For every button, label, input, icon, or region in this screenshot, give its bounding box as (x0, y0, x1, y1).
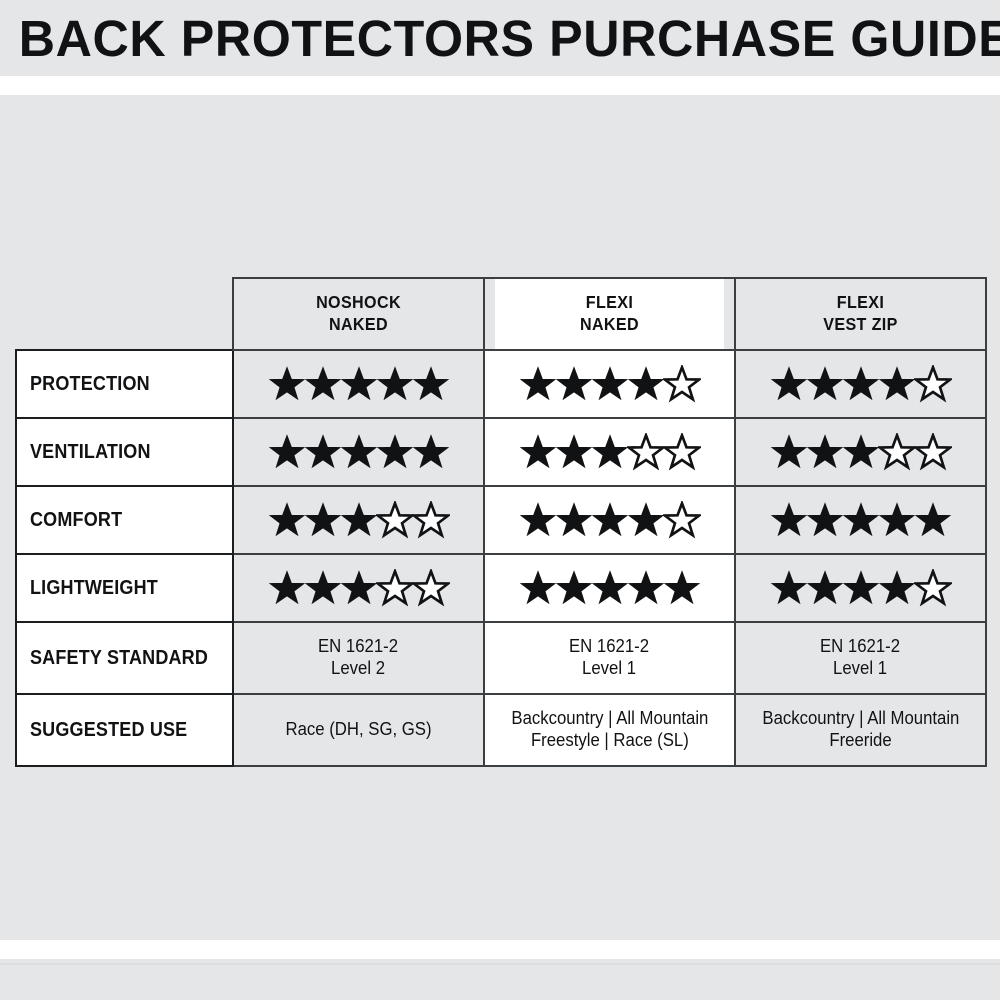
rating-stars (737, 501, 984, 539)
row-label-text: COMFORT (30, 509, 122, 532)
star-filled-icon (340, 569, 378, 607)
star-filled-icon (806, 433, 844, 471)
row-label-text: SUGGESTED USE (30, 719, 187, 742)
star-filled-icon (770, 501, 808, 539)
row-label-3: LIGHTWEIGHT (16, 554, 233, 622)
cell-text-line: EN 1621-2 (318, 636, 398, 658)
cell-r0-c0 (233, 350, 484, 418)
star-filled-icon (806, 365, 844, 403)
table-row: SAFETY STANDARDEN 1621-2Level 2EN 1621-2… (16, 622, 986, 694)
rating-stars (486, 569, 733, 607)
table-header: NOSHOCKNAKED FLEXINAKED FLEXIVEST ZIP (16, 278, 986, 350)
star-empty-icon (412, 569, 450, 607)
rating-stars (737, 365, 984, 403)
cell-r2-c2 (735, 486, 986, 554)
cell-r5-c0: Race (DH, SG, GS) (233, 694, 484, 766)
star-filled-icon (340, 501, 378, 539)
cell-text-line: Backcountry | All Mountain (511, 708, 708, 730)
column-header-2: FLEXIVEST ZIP (745, 278, 976, 350)
star-filled-icon (555, 501, 593, 539)
star-filled-icon (376, 433, 414, 471)
star-filled-icon (591, 569, 629, 607)
column-header-line2: NAKED (496, 314, 723, 336)
cell-r4-c1: EN 1621-2Level 1 (484, 622, 735, 694)
rating-stars (235, 501, 482, 539)
page-title: BACK PROTECTORS PURCHASE GUIDE (0, 13, 1000, 64)
row-label-4: SAFETY STANDARD (16, 622, 233, 694)
cell-text-line: Freestyle | Race (SL) (531, 730, 689, 752)
star-filled-icon (770, 365, 808, 403)
star-empty-icon (412, 501, 450, 539)
column-header-line1: FLEXI (747, 292, 974, 314)
rating-stars (486, 365, 733, 403)
star-filled-icon (878, 569, 916, 607)
cell-r0-c2 (735, 350, 986, 418)
star-filled-icon (412, 433, 450, 471)
star-filled-icon (268, 501, 306, 539)
star-filled-icon (268, 433, 306, 471)
column-header-line2: NAKED (245, 314, 472, 336)
star-filled-icon (555, 433, 593, 471)
cell-text-line: Freeride (829, 730, 891, 752)
rating-stars (486, 501, 733, 539)
star-filled-icon (627, 501, 665, 539)
row-label-5: SUGGESTED USE (16, 694, 233, 766)
row-label-text: SAFETY STANDARD (30, 647, 208, 670)
star-filled-icon (627, 365, 665, 403)
star-filled-icon (340, 365, 378, 403)
divider-band-bottom (0, 940, 1000, 959)
star-empty-icon (376, 569, 414, 607)
column-header-line1: FLEXI (496, 292, 723, 314)
cell-text-line: Race (DH, SG, GS) (285, 719, 431, 741)
star-filled-icon (878, 365, 916, 403)
star-filled-icon (591, 365, 629, 403)
star-empty-icon (663, 365, 701, 403)
star-filled-icon (304, 569, 342, 607)
column-header-line1: NOSHOCK (245, 292, 472, 314)
star-filled-icon (376, 365, 414, 403)
star-filled-icon (304, 365, 342, 403)
cell-r2-c0 (233, 486, 484, 554)
cell-r4-c0: EN 1621-2Level 2 (233, 622, 484, 694)
star-filled-icon (555, 569, 593, 607)
star-filled-icon (842, 365, 880, 403)
table-row: SUGGESTED USERace (DH, SG, GS)Backcountr… (16, 694, 986, 766)
star-filled-icon (914, 501, 952, 539)
star-filled-icon (878, 501, 916, 539)
cell-r1-c1 (484, 418, 735, 486)
star-empty-icon (663, 501, 701, 539)
cell-text-line: EN 1621-2 (569, 636, 649, 658)
star-empty-icon (627, 433, 665, 471)
star-filled-icon (842, 501, 880, 539)
rating-stars (235, 569, 482, 607)
star-filled-icon (268, 365, 306, 403)
table-row: COMFORT (16, 486, 986, 554)
star-filled-icon (806, 501, 844, 539)
star-filled-icon (412, 365, 450, 403)
rating-stars (737, 569, 984, 607)
comparison-table-container: NOSHOCKNAKED FLEXINAKED FLEXIVEST ZIP PR… (15, 277, 985, 767)
cell-text-line: Level 1 (583, 658, 637, 680)
star-filled-icon (519, 365, 557, 403)
star-filled-icon (555, 365, 593, 403)
table-row: LIGHTWEIGHT (16, 554, 986, 622)
cell-text-line: EN 1621-2 (820, 636, 900, 658)
cell-text-line: Level 1 (834, 658, 888, 680)
title-band: BACK PROTECTORS PURCHASE GUIDE (0, 0, 1000, 76)
corner-cell (16, 278, 233, 350)
star-filled-icon (591, 501, 629, 539)
star-empty-icon (878, 433, 916, 471)
cell-text-line: Level 2 (332, 658, 386, 680)
column-header-1: FLEXINAKED (494, 278, 725, 350)
star-filled-icon (842, 433, 880, 471)
cell-r3-c0 (233, 554, 484, 622)
rating-stars (486, 433, 733, 471)
cell-r5-c2: Backcountry | All MountainFreeride (735, 694, 986, 766)
star-filled-icon (591, 433, 629, 471)
cell-r0-c1 (484, 350, 735, 418)
star-filled-icon (304, 501, 342, 539)
star-filled-icon (268, 569, 306, 607)
footer-hairline (0, 963, 1000, 965)
star-empty-icon (914, 433, 952, 471)
cell-r3-c1 (484, 554, 735, 622)
table-body: PROTECTIONVENTILATIONCOMFORTLIGHTWEIGHTS… (16, 350, 986, 766)
star-filled-icon (519, 501, 557, 539)
star-filled-icon (519, 569, 557, 607)
star-empty-icon (914, 365, 952, 403)
cell-r2-c1 (484, 486, 735, 554)
cell-r3-c2 (735, 554, 986, 622)
table-row: PROTECTION (16, 350, 986, 418)
star-empty-icon (376, 501, 414, 539)
star-filled-icon (519, 433, 557, 471)
row-label-0: PROTECTION (16, 350, 233, 418)
cell-r4-c2: EN 1621-2Level 1 (735, 622, 986, 694)
star-filled-icon (770, 569, 808, 607)
cell-r1-c0 (233, 418, 484, 486)
star-empty-icon (663, 433, 701, 471)
row-label-text: VENTILATION (30, 441, 151, 464)
star-filled-icon (304, 433, 342, 471)
star-filled-icon (842, 569, 880, 607)
star-filled-icon (627, 569, 665, 607)
star-filled-icon (806, 569, 844, 607)
rating-stars (737, 433, 984, 471)
cell-r1-c2 (735, 418, 986, 486)
column-header-line2: VEST ZIP (747, 314, 974, 336)
table-row: VENTILATION (16, 418, 986, 486)
rating-stars (235, 433, 482, 471)
row-label-1: VENTILATION (16, 418, 233, 486)
cell-r5-c1: Backcountry | All MountainFreestyle | Ra… (484, 694, 735, 766)
star-empty-icon (914, 569, 952, 607)
header-row: NOSHOCKNAKED FLEXINAKED FLEXIVEST ZIP (16, 278, 986, 350)
column-header-0: NOSHOCKNAKED (243, 278, 474, 350)
star-filled-icon (770, 433, 808, 471)
cell-text-line: Backcountry | All Mountain (762, 708, 959, 730)
divider-band-top (0, 76, 1000, 95)
comparison-table: NOSHOCKNAKED FLEXINAKED FLEXIVEST ZIP PR… (15, 277, 987, 767)
rating-stars (235, 365, 482, 403)
row-label-text: PROTECTION (30, 373, 150, 396)
star-filled-icon (663, 569, 701, 607)
row-label-2: COMFORT (16, 486, 233, 554)
row-label-text: LIGHTWEIGHT (30, 577, 158, 600)
star-filled-icon (340, 433, 378, 471)
